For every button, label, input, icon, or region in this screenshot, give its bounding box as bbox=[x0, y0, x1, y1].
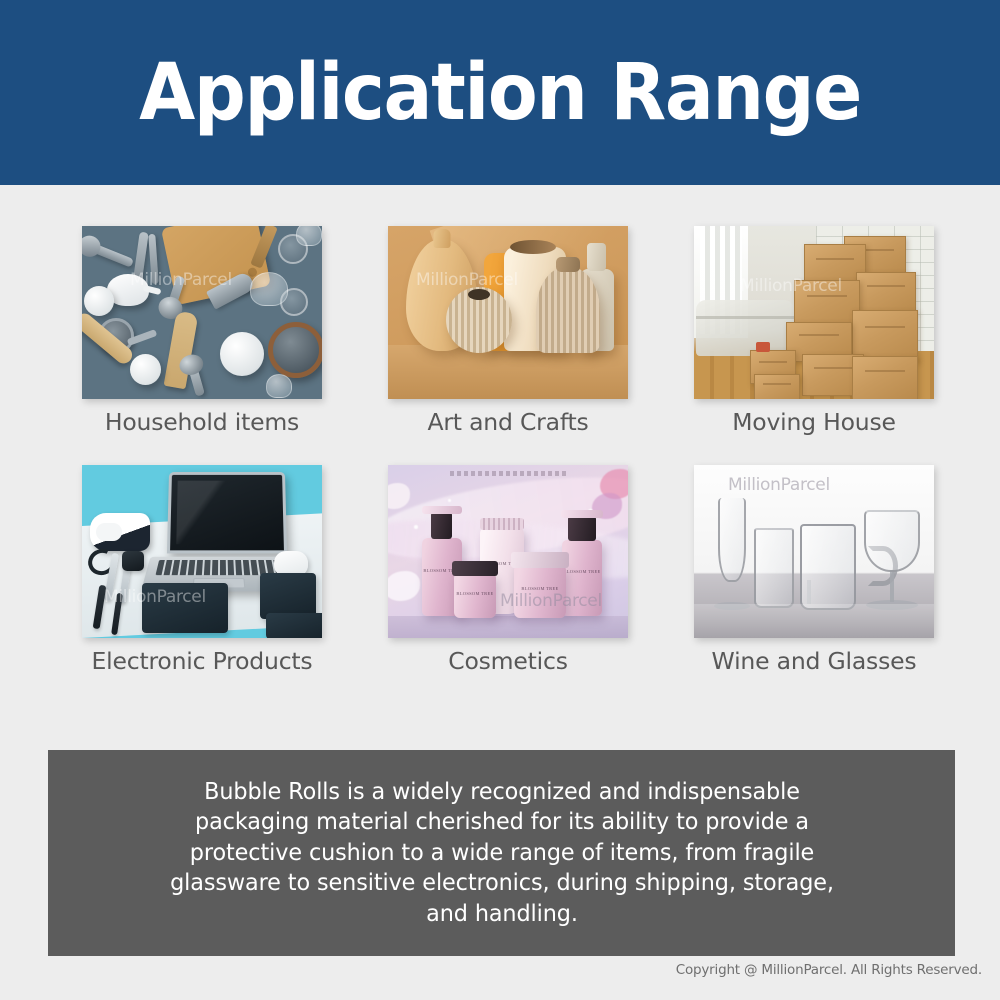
card-label-art-and-crafts: Art and Crafts bbox=[388, 399, 628, 436]
card-label-wine-and-glasses: Wine and Glasses bbox=[694, 638, 934, 675]
lotion-pump-bottle-icon: BLOSSOM TREE bbox=[562, 540, 602, 616]
spoon-icon bbox=[188, 365, 205, 396]
glass-icon bbox=[250, 272, 288, 306]
sparkle bbox=[414, 525, 418, 529]
tumbler-glass-icon bbox=[754, 528, 794, 608]
thumbnail-electronic-products[interactable]: MillionParcel bbox=[82, 465, 322, 638]
glass-icon bbox=[266, 374, 292, 398]
table-surface bbox=[388, 345, 628, 399]
page-header: Application Range bbox=[0, 0, 1000, 185]
card-cosmetics[interactable]: BLOSSOM TREE BLOSSOM TREE BLOSSOM TREE B… bbox=[388, 465, 628, 675]
tape-roll-icon bbox=[756, 342, 770, 352]
counter-surface bbox=[388, 616, 628, 638]
cardboard-box-icon bbox=[754, 374, 800, 399]
application-card-grid: MillionParcel Household items MillionPar… bbox=[82, 226, 928, 675]
art-and-crafts-illustration: MillionParcel bbox=[388, 226, 628, 399]
bowl-icon bbox=[130, 354, 161, 385]
decorative-top-text bbox=[450, 471, 566, 476]
cosmetics-illustration: BLOSSOM TREE BLOSSOM TREE BLOSSOM TREE B… bbox=[388, 465, 628, 638]
ladle-icon bbox=[86, 241, 134, 267]
product-brand-label: BLOSSOM TREE bbox=[454, 591, 496, 598]
moving-house-illustration: MillionParcel bbox=[694, 226, 934, 399]
product-brand-label: BLOSSOM TREE bbox=[562, 569, 602, 576]
card-label-moving-house: Moving House bbox=[694, 399, 934, 436]
page-title: Application Range bbox=[139, 54, 861, 132]
card-wine-and-glasses[interactable]: MillionParcel Wine and Glasses bbox=[694, 465, 934, 675]
card-label-cosmetics: Cosmetics bbox=[388, 638, 628, 675]
card-household-items[interactable]: MillionParcel Household items bbox=[82, 226, 322, 436]
thumbnail-moving-house[interactable]: MillionParcel bbox=[694, 226, 934, 399]
flower-petal bbox=[388, 483, 410, 509]
card-label-household-items: Household items bbox=[82, 399, 322, 436]
bowl-icon bbox=[220, 332, 264, 376]
smartwatch-icon bbox=[122, 551, 144, 571]
card-electronic-products[interactable]: MillionParcel Electronic Products bbox=[82, 465, 322, 675]
covered-sofa bbox=[696, 300, 794, 356]
cardboard-box-icon bbox=[852, 356, 918, 399]
notebook-icon bbox=[266, 613, 322, 638]
vr-headset-icon bbox=[90, 513, 150, 551]
glass-icon bbox=[296, 226, 322, 246]
wine-glass-icon bbox=[864, 510, 920, 572]
wine-and-glasses-illustration: MillionParcel bbox=[694, 465, 934, 638]
product-brand-label: BLOSSOM TREE bbox=[514, 586, 566, 593]
description-panel: Bubble Rolls is a widely recognized and … bbox=[48, 750, 955, 956]
card-label-electronic-products: Electronic Products bbox=[82, 638, 322, 675]
pan-icon bbox=[268, 322, 322, 378]
image-watermark: MillionParcel bbox=[728, 475, 830, 495]
ribbed-sphere-vase-icon bbox=[446, 287, 512, 353]
wine-glass-stem bbox=[890, 570, 894, 602]
copyright-footer: Copyright @ MillionParcel. All Rights Re… bbox=[676, 962, 982, 978]
champagne-flute-icon bbox=[718, 498, 746, 582]
household-items-illustration: MillionParcel bbox=[82, 226, 322, 399]
tongs-icon bbox=[148, 234, 158, 284]
beer-mug-icon bbox=[800, 524, 856, 610]
thumbnail-household-items[interactable]: MillionParcel bbox=[82, 226, 322, 399]
thumbnail-wine-and-glasses[interactable]: MillionParcel bbox=[694, 465, 934, 638]
ribbed-dome-vase-icon bbox=[536, 267, 600, 353]
thumbnail-cosmetics[interactable]: BLOSSOM TREE BLOSSOM TREE BLOSSOM TREE B… bbox=[388, 465, 628, 638]
glass-reflection bbox=[694, 604, 934, 638]
card-moving-house[interactable]: MillionParcel Moving House bbox=[694, 226, 934, 436]
cream-jar-icon: BLOSSOM TREE bbox=[514, 566, 566, 618]
electronic-products-illustration: MillionParcel bbox=[82, 465, 322, 638]
flower-petal bbox=[388, 571, 420, 601]
sparkle bbox=[448, 499, 451, 502]
bowl-icon bbox=[84, 286, 114, 316]
description-text: Bubble Rolls is a widely recognized and … bbox=[167, 777, 836, 929]
card-art-and-crafts[interactable]: MillionParcel Art and Crafts bbox=[388, 226, 628, 436]
application-range-poster: Application Range bbox=[0, 0, 1000, 1000]
laptop-screen-icon bbox=[167, 472, 287, 553]
cardboard-box-icon bbox=[856, 272, 916, 314]
cream-jar-icon: BLOSSOM TREE bbox=[454, 574, 496, 618]
thumbnail-art-and-crafts[interactable]: MillionParcel bbox=[388, 226, 628, 399]
tablet-icon bbox=[142, 583, 228, 633]
